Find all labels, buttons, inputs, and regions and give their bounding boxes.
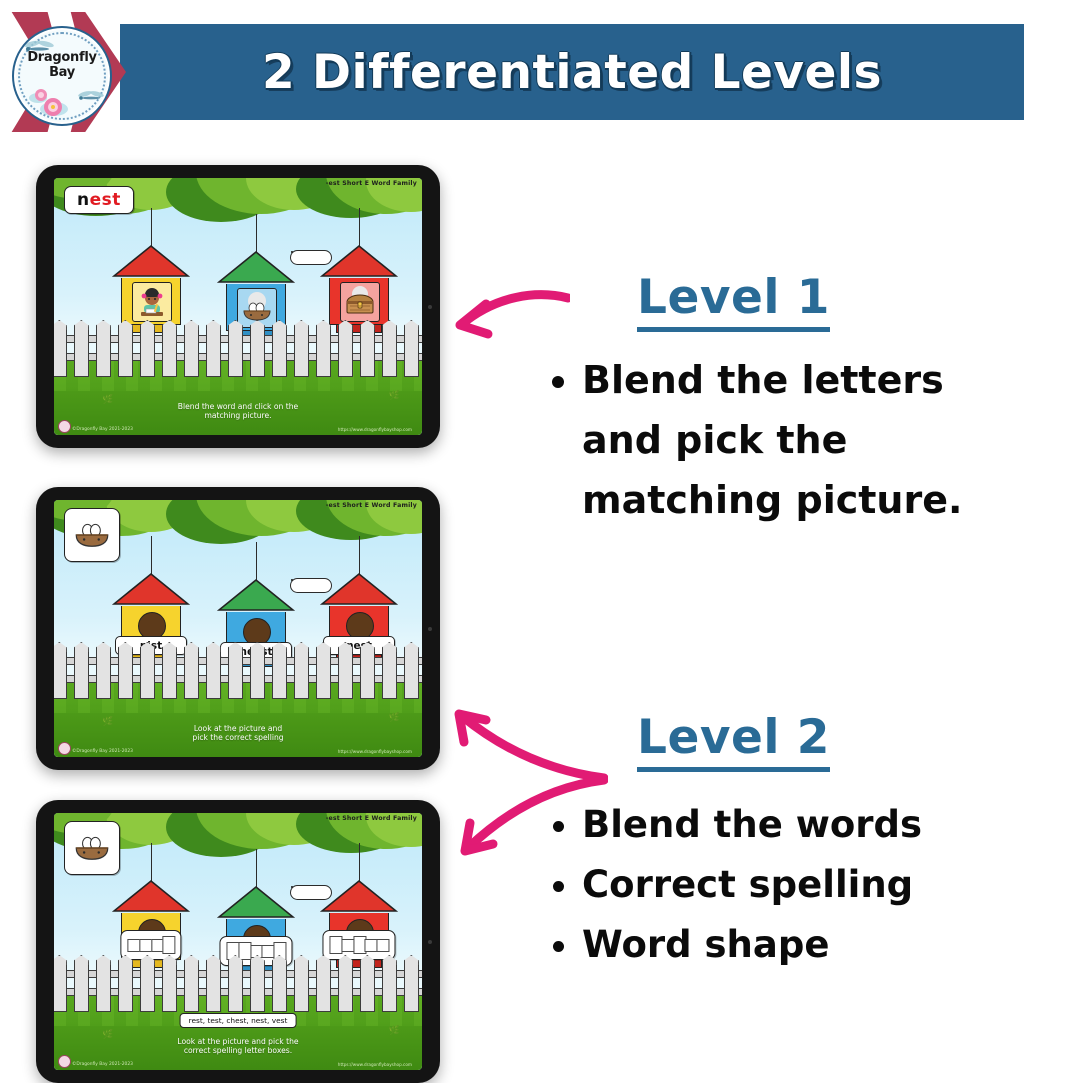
dragonfly-bay-logo: Dragonfly Bay (12, 26, 112, 126)
roof-shape (112, 879, 190, 913)
camera-dot (428, 940, 432, 944)
roof-shape (217, 578, 295, 612)
picket-fence (54, 645, 422, 699)
roof-shape (320, 879, 398, 913)
house-window (340, 282, 380, 322)
caption-line-2: matching picture. (54, 411, 422, 421)
logo-line-1: Dragonfly (14, 50, 110, 65)
roof-shape (217, 250, 295, 284)
picket-fence (54, 958, 422, 1012)
dragonfly-icon-2 (76, 88, 106, 106)
caption-line-2: pick the correct spelling (54, 733, 422, 743)
birdhouse-1[interactable] (112, 879, 190, 968)
slide-footer: ©Dragonfly Bay 2021-2023 https://www.dra… (54, 1056, 422, 1068)
picture-prompt-card (64, 821, 120, 875)
birdhouse-3[interactable] (320, 879, 398, 968)
hanging-string (359, 208, 360, 246)
leaf-decor: 🌿 (389, 392, 400, 401)
list-item: Correct spelling (582, 855, 1030, 915)
birdhouse-1[interactable] (112, 244, 190, 333)
slide-caption-1: Blend the word and click on the matching… (54, 402, 422, 421)
arrow-to-level-1 (440, 282, 570, 352)
slide-scene-3: -est Short E Word Family (54, 813, 422, 1070)
list-item: Blend the words (582, 795, 1030, 855)
tablet-level-2-spelling: -est Short E Word Family nis (36, 487, 440, 770)
brand-badge-icon (58, 420, 71, 433)
tablet-screen-1: -est Short E Word Family nest (54, 178, 422, 435)
slide-caption-2: Look at the picture and pick the correct… (54, 724, 422, 743)
nest-eggs-icon (72, 830, 112, 866)
treasure-chest-icon (343, 285, 377, 319)
roof-shape (112, 572, 190, 606)
house-window (132, 282, 172, 322)
slide-footer: ©Dragonfly Bay 2021-2023 https://www.dra… (54, 743, 422, 755)
hanging-string (256, 542, 257, 580)
girl-writing-icon (135, 285, 169, 319)
slide-footer: ©Dragonfly Bay 2021-2023 https://www.dra… (54, 421, 422, 433)
slide-scene-2: -est Short E Word Family nis (54, 500, 422, 757)
hanging-string (359, 536, 360, 574)
hanging-string (256, 849, 257, 887)
caption-line-1: Look at the picture and pick the (54, 1037, 422, 1047)
caption-line-1: Blend the word and click on the (54, 402, 422, 412)
roof-shape (112, 244, 190, 278)
word-onset: n (77, 190, 90, 210)
picket-fence (54, 323, 422, 377)
word-shape-boxes[interactable] (322, 930, 395, 960)
page-header: 2 Differentiated Levels Dragonfly Bay (0, 12, 1080, 120)
logo-text: Dragonfly Bay (14, 50, 110, 80)
house-body (329, 278, 389, 325)
house-body (329, 913, 389, 960)
tablet-level-1: -est Short E Word Family nest (36, 165, 440, 448)
birdhouse-3[interactable] (320, 244, 398, 333)
hanging-string (151, 843, 152, 881)
list-item: Blend the letters and pick the matching … (582, 350, 1030, 530)
page-title: 2 Differentiated Levels (120, 24, 1024, 120)
nest-eggs-icon (240, 291, 274, 325)
slide-header-1: -est Short E Word Family (326, 180, 417, 187)
shop-url: https://www.dragonflybayshop.com (338, 427, 412, 432)
house-body (121, 913, 181, 960)
prompt-word-card: nest (64, 186, 134, 214)
tablet-screen-2: -est Short E Word Family nis (54, 500, 422, 757)
picture-prompt-card (64, 508, 120, 562)
leaf-decor: 🌿 (389, 1027, 400, 1036)
tablet-screen-3: -est Short E Word Family (54, 813, 422, 1070)
hanging-string (151, 208, 152, 246)
caption-line-1: Look at the picture and (54, 724, 422, 734)
copyright-text: ©Dragonfly Bay 2021-2023 (72, 1062, 133, 1067)
hanging-string (256, 214, 257, 252)
slide-caption-3: Look at the picture and pick the correct… (54, 1037, 422, 1056)
shop-url: https://www.dragonflybayshop.com (338, 1062, 412, 1067)
roof-shape (320, 572, 398, 606)
word-rime: est (90, 190, 121, 210)
level-2-bullets: Blend the words Correct spelling Word sh… (540, 795, 1030, 975)
list-item: Word shape (582, 915, 1030, 975)
lotus-flower-icon (28, 84, 72, 118)
copyright-text: ©Dragonfly Bay 2021-2023 (72, 427, 133, 432)
hanging-string (151, 536, 152, 574)
brand-badge-icon (58, 1055, 71, 1068)
copyright-text: ©Dragonfly Bay 2021-2023 (72, 749, 133, 754)
word-bank: rest, test, chest, nest, vest (180, 1013, 297, 1028)
brand-badge-icon (58, 742, 71, 755)
level-2-heading: Level 2 (637, 710, 830, 772)
house-body (121, 278, 181, 325)
nest-eggs-icon (72, 517, 112, 553)
shop-url: https://www.dragonflybayshop.com (338, 749, 412, 754)
logo-line-2: Bay (14, 65, 110, 80)
tablet-level-2-wordshape: -est Short E Word Family (36, 800, 440, 1083)
slide-header-2: -est Short E Word Family (326, 502, 417, 509)
camera-dot (428, 627, 432, 631)
level-1-bullets: Blend the letters and pick the matching … (540, 350, 1030, 530)
camera-dot (428, 305, 432, 309)
leaf-decor: 🌿 (389, 714, 400, 723)
level-1-heading: Level 1 (637, 270, 830, 332)
slide-scene-1: -est Short E Word Family nest (54, 178, 422, 435)
roof-shape (217, 885, 295, 919)
word-shape-boxes[interactable] (120, 930, 181, 960)
slide-header-3: -est Short E Word Family (326, 815, 417, 822)
caption-line-2: correct spelling letter boxes. (54, 1046, 422, 1056)
hanging-string (359, 843, 360, 881)
roof-shape (320, 244, 398, 278)
